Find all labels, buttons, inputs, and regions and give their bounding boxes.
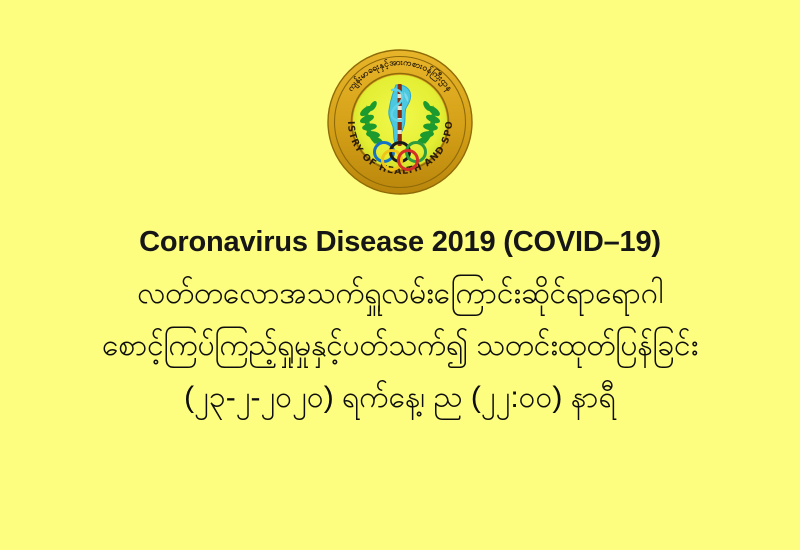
announcement-line-1: လတ်တလောအသက်ရှူလမ်းကြောင်းဆိုင်ရာရောဂါ xyxy=(0,268,800,320)
announcement-line-2: စောင့်ကြပ်ကြည့်ရှုမှုနှင့်ပတ်သက်၍ သတင်းထ… xyxy=(0,320,800,372)
page-title-english: Coronavirus Disease 2019 (COVID–19) xyxy=(0,222,800,262)
ministry-seal-icon: ကျန်းမာရေးနှင့်အားကစားဝန်ကြီးဌာန MINISTR… xyxy=(326,48,474,196)
announcement-date-line: (၂၃-၂-၂၀၂၀) ရက်နေ့၊ ည (၂၂:၀၀) နာရီ xyxy=(0,372,800,424)
covid-announcement-poster: ကျန်းမာရေးနှင့်အားကစားဝန်ကြီးဌာန MINISTR… xyxy=(0,0,800,550)
ministry-seal-logo: ကျန်းမာရေးနှင့်အားကစားဝန်ကြီးဌာန MINISTR… xyxy=(326,48,474,196)
announcement-text-block: Coronavirus Disease 2019 (COVID–19) လတ်တ… xyxy=(0,222,800,424)
